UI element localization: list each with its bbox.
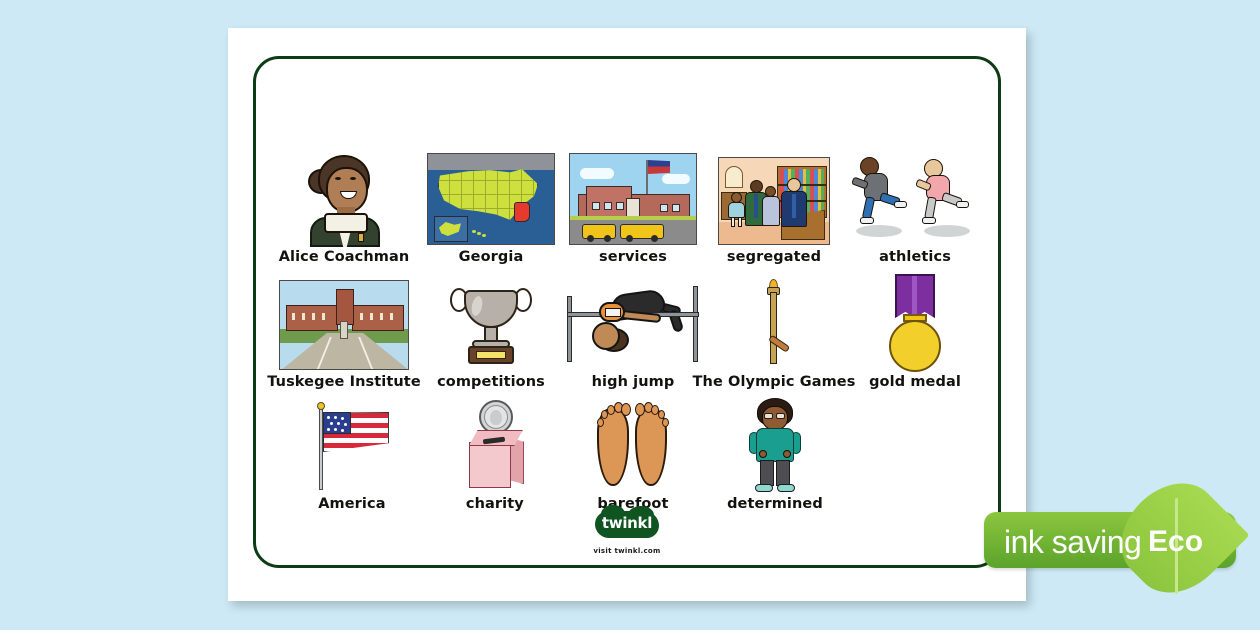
two-runners-icon — [850, 153, 980, 245]
bare-feet-icon — [595, 396, 671, 492]
word-label: segregated — [727, 249, 821, 265]
twinkl-url-text: visit twinkl.com — [228, 547, 1026, 555]
screenshot-root: Alice Coachman Alice Coachman — [0, 0, 1260, 630]
word-label: Tuskegee Institute — [267, 374, 421, 390]
school-building-with-bus-icon — [569, 153, 697, 245]
word-mat-grid: Alice Coachman Georgia — [268, 140, 986, 512]
high-jumper-over-bar-icon — [559, 278, 707, 370]
twinkl-footer[interactable]: twinkl visit twinkl.com — [228, 511, 1026, 555]
word-card-the-olympic-games[interactable]: The Olympic Games — [704, 265, 844, 390]
word-card-athletics[interactable]: athletics — [844, 140, 986, 265]
word-label: services — [599, 249, 667, 265]
gold-medal-purple-ribbon-icon — [879, 274, 951, 370]
usa-map-georgia-highlighted-icon — [427, 153, 555, 245]
word-label: gold medal — [869, 374, 961, 390]
word-label: competitions — [437, 374, 545, 390]
word-label: Georgia — [459, 249, 524, 265]
word-card-high-jump[interactable]: high jump — [562, 265, 704, 390]
word-label: high jump — [592, 374, 675, 390]
word-label: Alice Coachman — [279, 249, 410, 265]
word-label: charity — [466, 496, 524, 512]
silver-trophy-icon — [448, 276, 534, 370]
word-label: determined — [727, 496, 823, 512]
word-card-charity[interactable]: charity — [426, 390, 564, 512]
word-card-gold-medal[interactable]: gold medal — [844, 265, 986, 390]
word-row: Alice Coachman Georgia — [268, 140, 986, 265]
tuskegee-campus-building-icon — [279, 280, 409, 370]
portrait-alice-coachman-icon — [302, 153, 386, 245]
word-card-georgia[interactable]: Georgia — [420, 140, 562, 265]
olympic-torch-icon — [750, 278, 798, 370]
word-label: The Olympic Games — [693, 374, 856, 390]
pink-donation-box-with-coin-icon — [453, 398, 537, 492]
person-hands-on-hips-icon — [743, 398, 807, 492]
twinkl-logo-text: twinkl — [595, 514, 659, 532]
word-card-barefoot[interactable]: barefoot — [564, 390, 702, 512]
word-card-segregated[interactable]: segregated — [704, 140, 844, 265]
word-label: athletics — [879, 249, 951, 265]
word-card-determined[interactable]: determined — [702, 390, 848, 512]
word-label: America — [318, 496, 385, 512]
segregated-classroom-scene-icon — [718, 157, 830, 245]
word-card-tuskegee-institute[interactable]: Tuskegee Institute — [268, 265, 420, 390]
word-card-america[interactable]: America — [278, 390, 426, 512]
worksheet-card: Alice Coachman Alice Coachman — [228, 28, 1026, 601]
word-card-alice-coachman[interactable]: Alice Coachman — [268, 140, 420, 265]
ink-saving-label: ink saving — [1004, 524, 1141, 561]
word-card-competitions[interactable]: competitions — [420, 265, 562, 390]
american-flag-icon — [309, 400, 395, 492]
word-card-services[interactable]: services — [562, 140, 704, 265]
ink-saving-eco-badge: ink saving Eco — [960, 480, 1260, 592]
twinkl-logo-icon[interactable]: twinkl — [595, 511, 659, 538]
word-row: America charity — [268, 390, 986, 512]
word-row: Tuskegee Institute competitions — [268, 265, 986, 390]
eco-label: Eco — [1148, 525, 1203, 559]
